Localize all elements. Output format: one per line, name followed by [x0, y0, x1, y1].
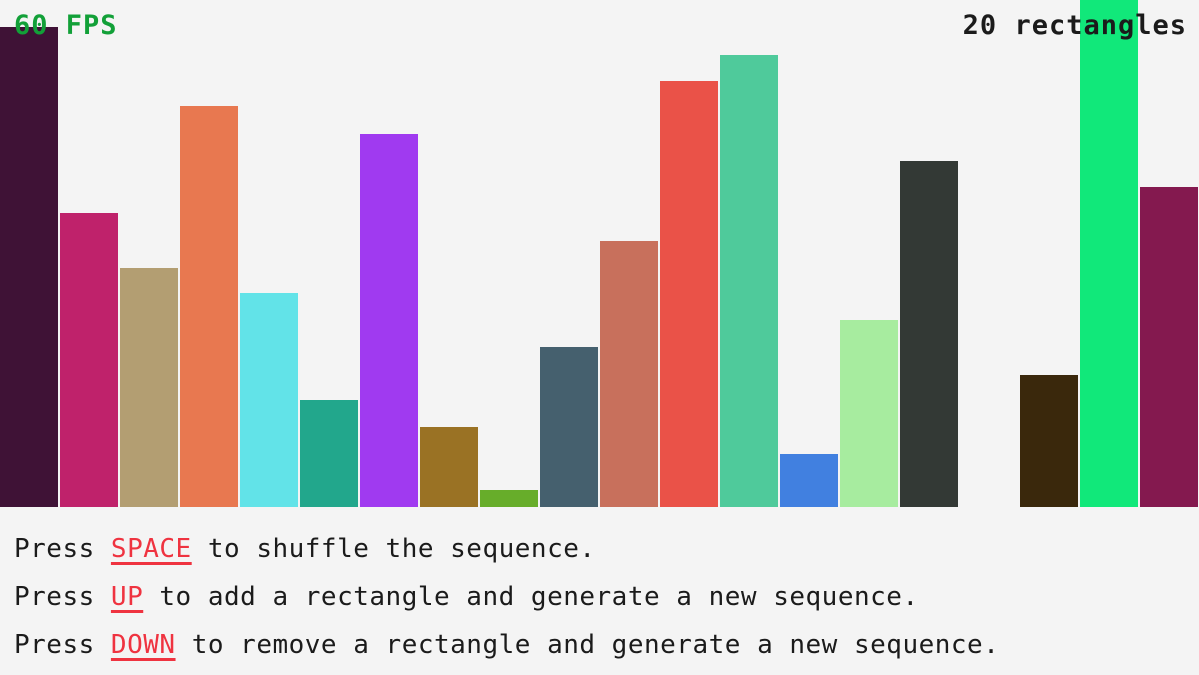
- instruction-prefix: Press: [14, 534, 111, 564]
- bar-8: [420, 427, 478, 507]
- bar-4: [180, 106, 238, 507]
- bar-16: [900, 161, 958, 507]
- key-up[interactable]: UP: [111, 582, 143, 612]
- bar-1: [0, 27, 58, 507]
- bar-18: [1020, 375, 1078, 507]
- bar-7: [360, 134, 418, 507]
- instruction-suffix: to remove a rectangle and generate a new…: [176, 630, 1000, 660]
- rectangle-visualizer-app: 60 FPS 20 rectangles Press SPACE to shuf…: [0, 0, 1199, 675]
- instructions-panel: Press SPACE to shuffle the sequence.Pres…: [0, 507, 1199, 675]
- bar-14: [780, 454, 838, 507]
- instruction-line-3: Press DOWN to remove a rectangle and gen…: [14, 621, 1199, 669]
- bar-chart-canvas[interactable]: [0, 0, 1199, 507]
- rectangle-count-label: 20 rectangles: [963, 12, 1187, 39]
- bar-3: [120, 268, 178, 507]
- key-space[interactable]: SPACE: [111, 534, 192, 564]
- instruction-prefix: Press: [14, 630, 111, 660]
- bar-19: [1080, 0, 1138, 507]
- instruction-line-1: Press SPACE to shuffle the sequence.: [14, 525, 1199, 573]
- fps-counter: 60 FPS: [14, 12, 118, 39]
- key-down[interactable]: DOWN: [111, 630, 176, 660]
- bar-5: [240, 293, 298, 507]
- bar-15: [840, 320, 898, 507]
- bar-12: [660, 81, 718, 507]
- bar-20: [1140, 187, 1198, 507]
- bar-9: [480, 490, 538, 507]
- bar-6: [300, 400, 358, 507]
- instruction-suffix: to add a rectangle and generate a new se…: [143, 582, 918, 612]
- instruction-suffix: to shuffle the sequence.: [192, 534, 596, 564]
- instruction-line-2: Press UP to add a rectangle and generate…: [14, 573, 1199, 621]
- bar-13: [720, 55, 778, 507]
- bar-11: [600, 241, 658, 507]
- bar-10: [540, 347, 598, 507]
- instruction-prefix: Press: [14, 582, 111, 612]
- bar-2: [60, 213, 118, 507]
